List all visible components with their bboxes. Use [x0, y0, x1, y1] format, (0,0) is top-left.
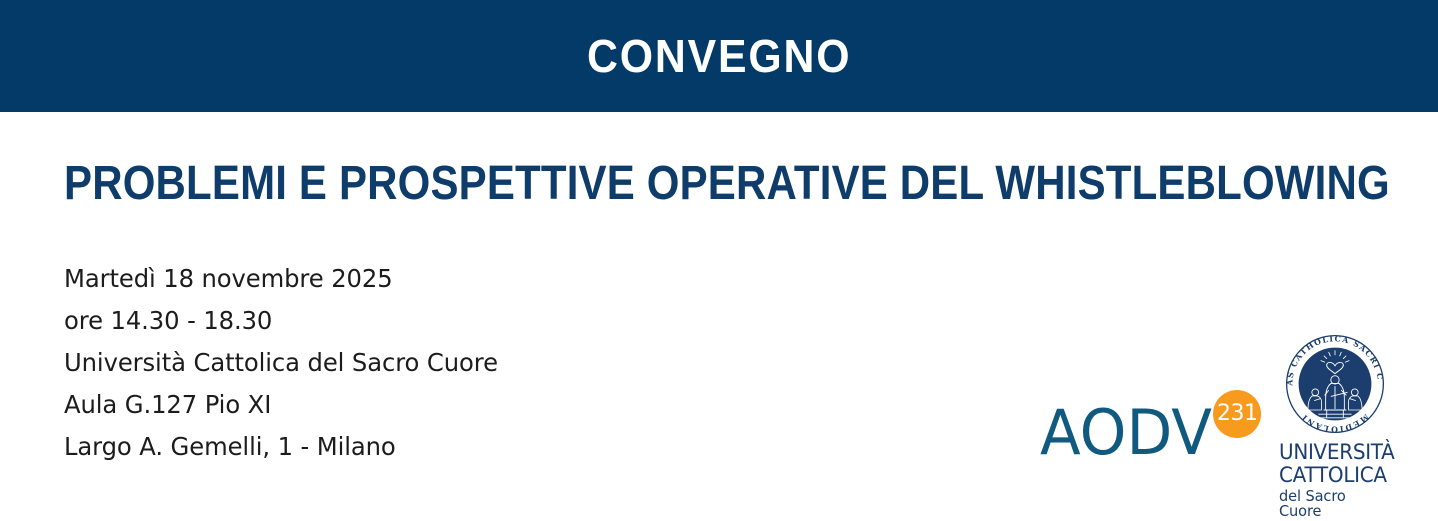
universita-cattolica-wordmark: UNIVERSITÀ CATTOLICA del Sacro Cuore — [1275, 442, 1395, 519]
detail-time: ore 14.30 - 18.30 — [64, 300, 498, 342]
logo-group: AODV 231 UNIVERSITAS CATHOLICA SACRI COR… — [1020, 330, 1420, 505]
event-poster: CONVEGNO PROBLEMI E PROSPETTIVE OPERATIV… — [0, 0, 1438, 521]
aodv-wordmark: AODV — [1040, 402, 1212, 464]
ucsc-name-line-2: CATTOLICA — [1279, 465, 1389, 486]
aodv-badge-number: 231 — [1217, 403, 1258, 425]
detail-date: Martedì 18 novembre 2025 — [64, 258, 498, 300]
detail-address: Largo A. Gemelli, 1 - Milano — [64, 426, 498, 468]
aodv-231-badge-icon: 231 — [1213, 390, 1261, 438]
universita-cattolica-logo: UNIVERSITAS CATHOLICA SACRI CORDIS IESU … — [1275, 332, 1395, 519]
universita-cattolica-seal-icon: UNIVERSITAS CATHOLICA SACRI CORDIS IESU … — [1283, 332, 1387, 436]
event-details: Martedì 18 novembre 2025 ore 14.30 - 18.… — [64, 258, 498, 468]
banner-bar: CONVEGNO — [0, 0, 1438, 112]
page-title: PROBLEMI E PROSPETTIVE OPERATIVE DEL WHI… — [64, 160, 1390, 208]
ucsc-name-line-3: del Sacro Cuore — [1279, 489, 1392, 519]
detail-room: Aula G.127 Pio XI — [64, 384, 498, 426]
ucsc-name-line-1: UNIVERSITÀ — [1279, 442, 1389, 463]
detail-venue: Università Cattolica del Sacro Cuore — [64, 342, 498, 384]
aodv-logo: AODV 231 — [1040, 402, 1261, 464]
banner-label: CONVEGNO — [587, 33, 851, 79]
